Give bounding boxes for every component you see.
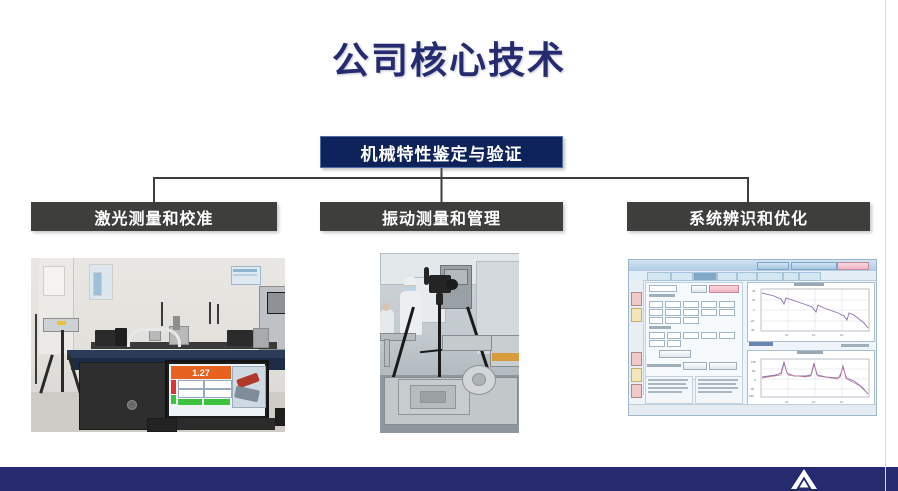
org-node-system-identification[interactable]: 系统辨识和优化	[627, 202, 870, 231]
laser-measurement-lab-photo: 1.27	[31, 258, 285, 432]
svg-text:0: 0	[754, 378, 756, 382]
svg-text:10: 10	[785, 333, 789, 337]
system-identification-software-photo: 4020 0-20 -40 101010	[628, 259, 877, 416]
triangle-a-logo	[787, 467, 821, 491]
svg-text:180: 180	[751, 360, 756, 364]
org-node-root[interactable]: 机械特性鉴定与验证	[320, 136, 563, 168]
slide-right-edge	[885, 0, 886, 491]
slide-canvas: 公司核心技术 机械特性鉴定与验证 激光测量和校准 振动测量和管理 系统辨识和优化	[0, 0, 898, 491]
svg-text:10: 10	[840, 333, 844, 337]
svg-text:0: 0	[753, 308, 755, 312]
svg-text:10: 10	[812, 333, 816, 337]
svg-text:-90: -90	[750, 387, 755, 391]
org-node-laser-measurement[interactable]: 激光测量和校准	[31, 202, 277, 231]
laptop-readout: 1.27	[171, 366, 231, 379]
svg-text:90: 90	[752, 369, 756, 373]
footer-bar	[0, 467, 898, 491]
svg-text:40: 40	[752, 289, 756, 293]
svg-text:-40: -40	[750, 328, 755, 332]
phase-plot: 18090 0-90 -180 101010	[747, 350, 875, 408]
org-node-vibration-measurement[interactable]: 振动测量和管理	[320, 202, 563, 231]
page-title: 公司核心技术	[0, 30, 898, 84]
magnitude-plot: 4020 0-20 -40 101010	[747, 282, 875, 342]
svg-text:20: 20	[752, 298, 756, 302]
svg-text:-20: -20	[750, 319, 755, 323]
vibration-measurement-cleanroom-photo	[380, 253, 519, 433]
svg-text:-180: -180	[748, 394, 754, 398]
